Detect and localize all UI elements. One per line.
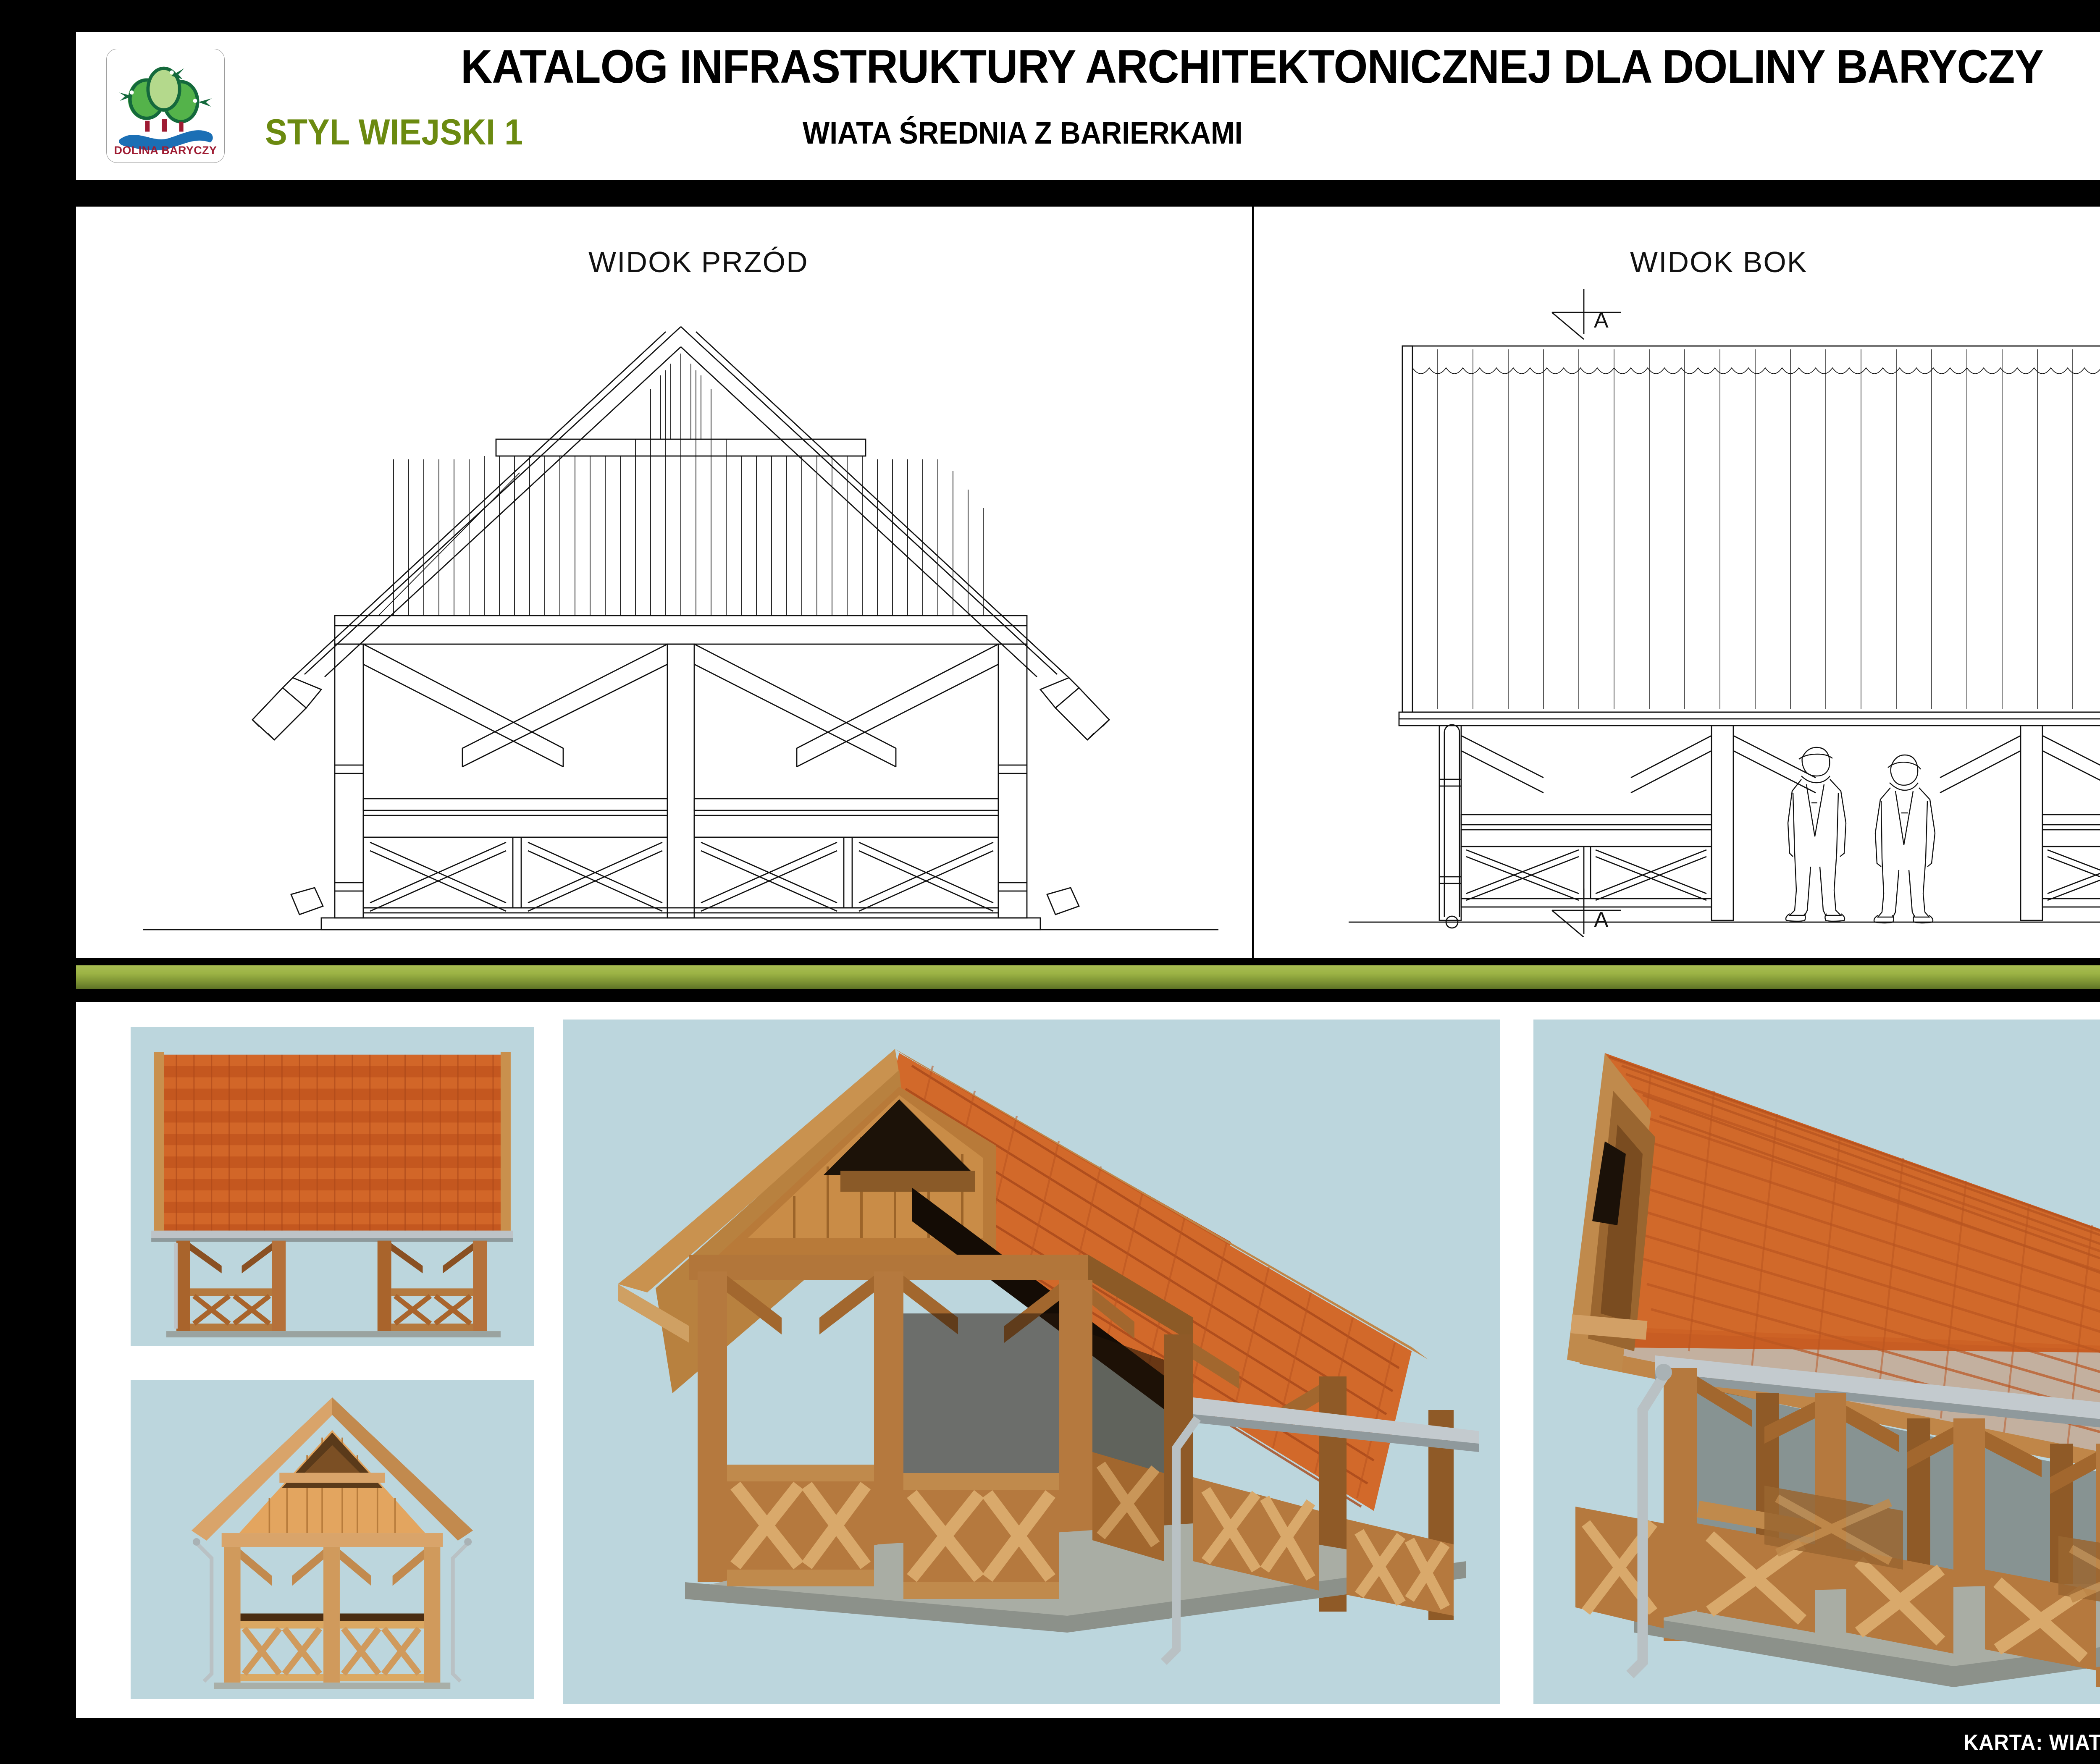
front-view-title: WIDOK PRZÓD: [588, 245, 808, 279]
header-title-block: KATALOG INFRASTRUKTURY ARCHITEKTONICZNEJ…: [257, 32, 2100, 180]
render-perspective-front: [563, 1020, 1500, 1704]
object-label: WIATA ŚREDNIA Z BARIERKAMI: [803, 115, 1243, 151]
style-label: STYL WIEJSKI 1: [265, 112, 523, 153]
renders-panel: [76, 1002, 2100, 1718]
header-subtitle-row: STYL WIEJSKI 1 WIATA ŚREDNIA Z BARIERKAM…: [257, 107, 2100, 157]
drawings-divider: [1252, 207, 1254, 958]
side-elevation-drawing: A: [1332, 265, 2100, 937]
section-mark-bottom-label: A: [1594, 908, 1609, 932]
dolina-baryczy-logo-graphic: DOLINA BARYCZY: [107, 49, 224, 163]
render-perspective-side: [1533, 1020, 2100, 1704]
section-mark-top-label: A: [1594, 308, 1609, 333]
svg-text:DOLINA BARYCZY: DOLINA BARYCZY: [114, 144, 217, 157]
technical-drawings-panel: WIDOK PRZÓD WIDOK BOK: [76, 207, 2100, 958]
render-side-elevation: [131, 1027, 534, 1346]
dolina-baryczy-logo: DOLINA BARYCZY: [106, 49, 225, 163]
front-elevation-drawing: [126, 295, 1235, 933]
section-divider-bar: [76, 964, 2100, 990]
page-title: KATALOG INFRASTRUKTURY ARCHITEKTONICZNEJ…: [326, 42, 2100, 92]
footer-card-label: KARTA: WIATA ŚREDNIA Z BARIERKAMI 2/2: [1963, 1730, 2100, 1755]
page-header: DOLINA BARYCZY KATALOG INFRASTRUKTURY AR…: [76, 32, 2100, 180]
page-footer: KARTA: WIATA ŚREDNIA Z BARIERKAMI 2/2: [0, 1718, 2100, 1764]
render-front-elevation: [131, 1380, 534, 1699]
